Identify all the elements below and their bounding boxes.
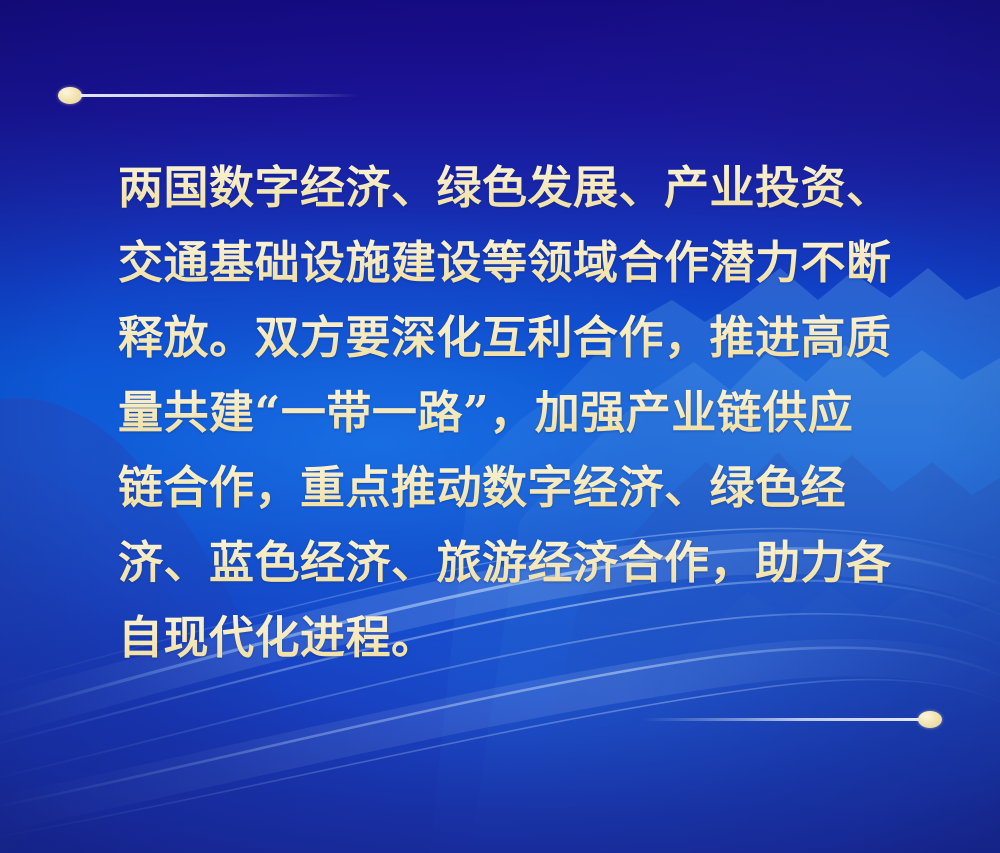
quote-line: 两国数字经济、绿色发展、产业投资、 <box>118 150 918 225</box>
quote-line: 自现代化进程。 <box>118 600 918 675</box>
quote-line: 量共建“一带一路”，加强产业链供应 <box>118 375 918 450</box>
quote-line: 链合作，重点推动数字经济、绿色经 <box>118 450 918 525</box>
quote-card: 两国数字经济、绿色发展、产业投资、 交通基础设施建设等领域合作潜力不断 释放。双… <box>0 0 1000 853</box>
quote-line: 济、蓝色经济、旅游经济合作，助力各 <box>118 525 918 600</box>
quote-line: 释放。双方要深化互利合作，推进高质 <box>118 300 918 375</box>
quote-text-block: 两国数字经济、绿色发展、产业投资、 交通基础设施建设等领域合作潜力不断 释放。双… <box>118 150 918 675</box>
quote-line: 交通基础设施建设等领域合作潜力不断 <box>118 225 918 300</box>
